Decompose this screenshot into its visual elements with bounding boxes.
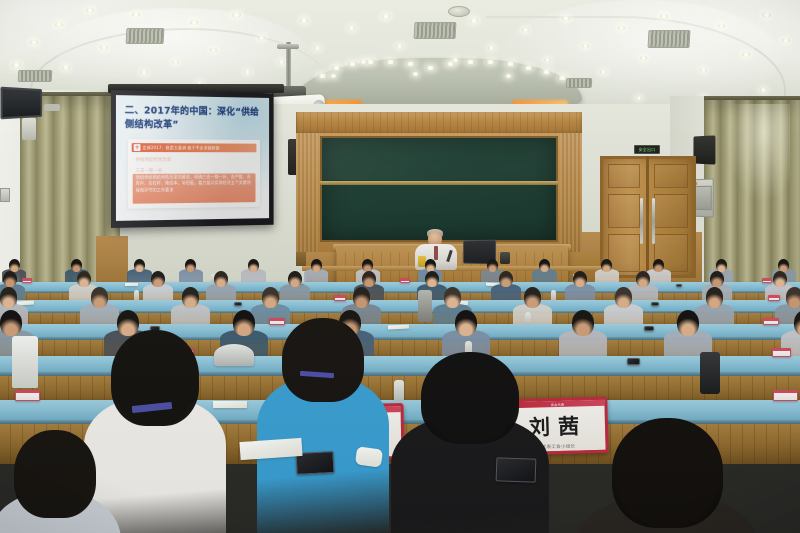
- ceiling-downlight: [30, 40, 38, 45]
- foreground-tumbler: [700, 352, 720, 394]
- wall-monitor-left: [0, 87, 42, 120]
- slide-content-card: + 定调2017：稳是主基调 敢于不走老路新路 供给侧结构性改革 三去一降一补 …: [128, 139, 260, 209]
- audience-head: [311, 259, 322, 272]
- soffit-strip-light: [386, 60, 395, 64]
- desk-paper: [213, 401, 247, 408]
- exit-sign: 安全出口: [634, 145, 660, 154]
- audience-head: [9, 259, 20, 272]
- audience-head: [710, 271, 724, 287]
- desk-name-card: [763, 318, 779, 325]
- ceiling-downlight: [232, 12, 241, 18]
- foreground-head: [282, 318, 363, 402]
- slide: 二、2017年的中国：深化“供给侧结构改革” + 定调2017：稳是主基调 敢于…: [116, 95, 269, 221]
- ceiling-vent: [18, 70, 53, 82]
- foreground-headset: [214, 344, 254, 366]
- ceiling-downlight: [190, 20, 198, 25]
- ceiling-downlight: [782, 38, 790, 43]
- ceiling-downlight: [12, 62, 21, 68]
- slide-body-block: 围绕供给侧结构性改革的推进，明确三去一降一补，去产能、去库存、去杠杆、降成本、补…: [133, 173, 256, 203]
- projector-mount-rod: [286, 42, 291, 90]
- speaker-tie: [434, 246, 438, 260]
- audience-head: [362, 259, 373, 272]
- foreground-bottle: [12, 336, 38, 388]
- desk-bottle: [525, 312, 531, 325]
- desk-name-card: [400, 278, 410, 282]
- audience-head: [499, 271, 513, 287]
- soffit-strip-light: [486, 60, 495, 64]
- desk-phone[interactable]: [644, 326, 655, 331]
- desk-bottle: [134, 290, 139, 301]
- stage-wood-column-right: [560, 133, 582, 255]
- desk-paper: [125, 283, 138, 286]
- audience-head: [353, 287, 371, 307]
- foreground-person-right: [592, 418, 742, 533]
- foreground-person-white-top: [96, 330, 214, 533]
- ceiling-downlight: [132, 12, 140, 17]
- ceiling-downlight: [762, 12, 771, 18]
- audience-head: [716, 259, 727, 272]
- nameplate-subtitle: 代表工会小组长: [542, 443, 576, 450]
- audience-head: [773, 271, 787, 287]
- audience-head: [134, 259, 145, 272]
- door-handle-right[interactable]: [652, 198, 655, 244]
- door-panel: [608, 164, 640, 188]
- foreground-phone[interactable]: [496, 457, 537, 482]
- audience-head: [182, 287, 200, 307]
- blackboard-chalk-rail: [320, 181, 558, 185]
- ceiling-downlight: [86, 8, 94, 13]
- audience-head: [151, 271, 165, 287]
- slide-banner: + 定调2017：稳是主基调 敢于不走老路新路: [132, 143, 257, 152]
- audience-head: [0, 310, 22, 335]
- lecture-hall-photo: EPSON 安全出口 二、2017年的中国：深化“: [0, 0, 800, 533]
- door-panel: [608, 194, 640, 228]
- audience-head: [455, 310, 477, 335]
- audience-head: [362, 271, 376, 287]
- ceiling-downlight: [742, 52, 750, 57]
- wall-equipment-box: [22, 118, 36, 140]
- foreground-person-left-edge: [0, 430, 110, 533]
- ceiling-vent: [126, 28, 165, 44]
- audience-head: [288, 271, 302, 287]
- ceiling-downlight: [562, 16, 570, 21]
- audience-head: [233, 310, 255, 335]
- ceiling-vent: [648, 30, 691, 48]
- audience-head: [248, 259, 259, 272]
- soffit-strip-light: [542, 70, 551, 74]
- foreground-tissue: [355, 446, 383, 467]
- curtain-right-sunlight: [726, 104, 790, 200]
- desk-phone[interactable]: [627, 358, 640, 365]
- ceiling-downlight: [300, 18, 308, 23]
- soffit-strip-light: [366, 60, 375, 64]
- slide-body-text: 围绕供给侧结构性改革的推进，明确三去一降一补，去产能、去库存、去杠杆、降成本、补…: [136, 175, 253, 195]
- slide-title: 二、2017年的中国：深化“供给侧结构改革”: [125, 104, 262, 133]
- wall-speaker-right: [693, 135, 715, 164]
- smoke-detector-icon: [448, 6, 470, 17]
- ceiling-downlight: [140, 70, 148, 75]
- audience-head: [778, 259, 789, 272]
- exit-sign-label: 安全出口: [639, 147, 656, 153]
- audience-head: [487, 259, 498, 272]
- soffit-strip-light: [406, 62, 415, 66]
- ceiling-downlight: [660, 14, 668, 19]
- door-panel: [654, 194, 688, 228]
- wall-switch-panel-left[interactable]: [0, 188, 10, 202]
- foreground-person-blue-shirt: [268, 318, 378, 512]
- ceiling-downlight: [100, 45, 108, 50]
- soffit-strip-light: [348, 62, 357, 66]
- audience-head: [524, 287, 542, 307]
- foreground-head: [612, 418, 723, 528]
- audience-head: [539, 259, 550, 272]
- foreground-head: [111, 330, 198, 426]
- desk-name-card: [15, 390, 40, 401]
- audience-head: [573, 271, 587, 287]
- audience-head: [636, 271, 650, 287]
- foreground-thermos: [418, 290, 432, 322]
- soffit-strip-light: [466, 60, 475, 64]
- desk-phone[interactable]: [676, 284, 683, 287]
- foreground-head: [14, 430, 95, 518]
- audience-head: [786, 287, 800, 307]
- audience-head: [185, 259, 196, 272]
- soffit-strip-light: [446, 62, 455, 66]
- soffit-strip-light: [426, 66, 435, 70]
- wall-monitor-arm: [44, 104, 60, 111]
- audience-head: [615, 287, 633, 307]
- audience-head: [214, 271, 228, 287]
- audience-head: [262, 287, 280, 307]
- ceiling-downlight: [382, 14, 390, 19]
- foreground-person-dark: [404, 352, 536, 533]
- slide-banner-badge-icon: +: [134, 144, 141, 151]
- soffit-strip-light: [506, 62, 515, 66]
- door-panel: [654, 164, 688, 188]
- audience-head: [653, 259, 664, 272]
- ceiling-vent: [566, 78, 593, 88]
- foreground-head: [421, 352, 519, 444]
- stage-wood-column-left: [296, 133, 318, 255]
- door-handle-left[interactable]: [640, 198, 643, 244]
- audience-head: [425, 271, 439, 287]
- ceiling-vent: [414, 22, 457, 39]
- audience-head: [425, 259, 436, 272]
- audience-head: [444, 287, 462, 307]
- desk-phone[interactable]: [651, 302, 659, 306]
- desk-bottle: [394, 380, 404, 401]
- slide-banner-text: 定调2017：稳是主基调 敢于不走老路新路: [142, 145, 219, 151]
- soffit-strip-light: [318, 74, 327, 78]
- audience-head: [91, 287, 109, 307]
- blackboard-sheen: [322, 138, 556, 180]
- soffit-strip-light: [332, 66, 341, 70]
- desk-name-card: [773, 390, 798, 401]
- audience-head: [77, 271, 91, 287]
- ceiling-downlight: [470, 18, 478, 23]
- ceiling-downlight: [55, 22, 63, 27]
- ceiling-downlight: [636, 96, 642, 100]
- audience-head: [572, 310, 594, 335]
- desk-phone[interactable]: [234, 302, 242, 306]
- audience-head: [71, 259, 82, 272]
- projection-screen: 二、2017年的中国：深化“供给侧结构改革” + 定调2017：稳是主基调 敢于…: [111, 90, 274, 228]
- audience-head: [706, 287, 724, 307]
- nameplate-header-text: 参会代表: [551, 401, 565, 406]
- audience-head: [601, 259, 612, 272]
- projection-screen-surface: 二、2017年的中国：深化“供给侧结构改革” + 定调2017：稳是主基调 敢于…: [116, 95, 269, 221]
- slide-faint-line-1: 供给侧结构性改革: [136, 157, 253, 165]
- ceiling-downlight: [62, 65, 70, 70]
- audience-head: [0, 287, 17, 307]
- desk-name-card: [772, 348, 792, 357]
- audience-head: [677, 310, 699, 335]
- projector-mount-bracket: [277, 44, 299, 49]
- soffit-strip-light: [524, 66, 533, 70]
- audience-head: [3, 271, 17, 287]
